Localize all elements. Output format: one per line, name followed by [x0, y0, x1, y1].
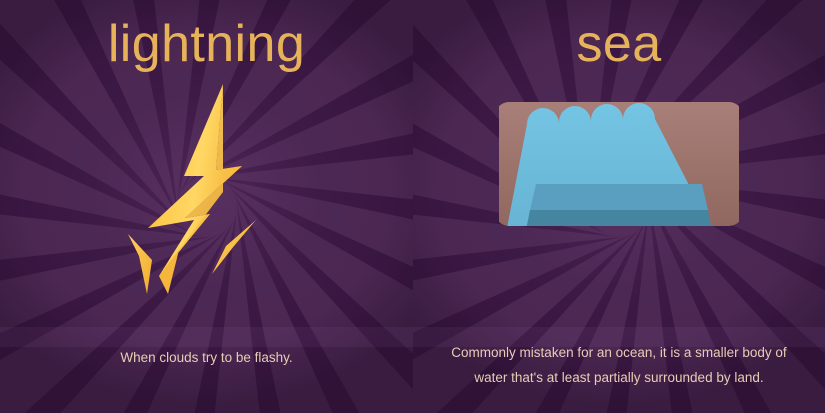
page-title-sea: sea [413, 14, 825, 75]
card-caption-lightning: When clouds try to be flashy. [26, 346, 387, 371]
lightning-bolt-icon [0, 80, 413, 320]
page-title-lightning: lightning [0, 14, 413, 75]
horizon-light-band-left [0, 327, 413, 347]
word-card-gallery: lightning [0, 0, 825, 413]
word-card-lightning[interactable]: lightning [0, 0, 413, 413]
word-card-sea[interactable]: sea [413, 0, 825, 413]
sea-water-land-icon [413, 80, 825, 320]
card-caption-sea: Commonly mistaken for an ocean, it is a … [439, 341, 799, 391]
